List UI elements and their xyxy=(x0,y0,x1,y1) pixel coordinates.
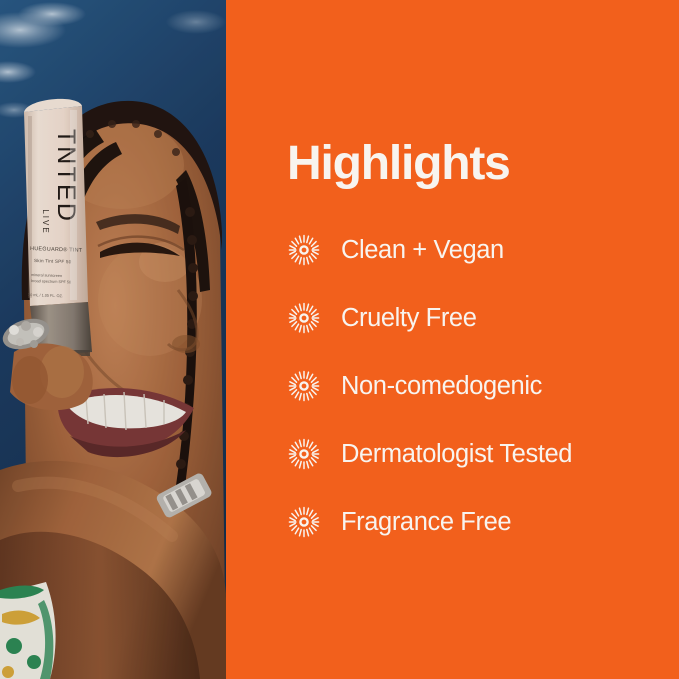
list-item-label: Cruelty Free xyxy=(341,304,477,332)
product-highlights-banner: TNTED LIVE HUEGUARD® TINT Skin Tint SPF … xyxy=(0,0,679,679)
list-item-label: Dermatologist Tested xyxy=(341,440,572,468)
lifestyle-photo-panel: TNTED LIVE HUEGUARD® TINT Skin Tint SPF … xyxy=(0,0,226,679)
list-item-label: Fragrance Free xyxy=(341,508,511,536)
page-title: Highlights xyxy=(287,140,510,188)
list-item: Cruelty Free xyxy=(287,295,667,341)
list-item-label: Clean + Vegan xyxy=(341,236,504,264)
highlights-panel: Highlights xyxy=(226,0,679,679)
sunburst-icon xyxy=(287,301,321,335)
lifestyle-photo: TNTED LIVE HUEGUARD® TINT Skin Tint SPF … xyxy=(0,0,226,679)
sunburst-icon xyxy=(287,369,321,403)
sunburst-icon xyxy=(287,437,321,471)
list-item: Fragrance Free xyxy=(287,499,667,545)
list-item: Non-comedogenic xyxy=(287,363,667,409)
sunburst-icon xyxy=(287,505,321,539)
sunburst-icon xyxy=(287,233,321,267)
list-item: Clean + Vegan xyxy=(287,227,667,273)
list-item-label: Non-comedogenic xyxy=(341,372,542,400)
highlights-list: Clean + Vegan xyxy=(287,227,667,567)
list-item: Dermatologist Tested xyxy=(287,431,667,477)
